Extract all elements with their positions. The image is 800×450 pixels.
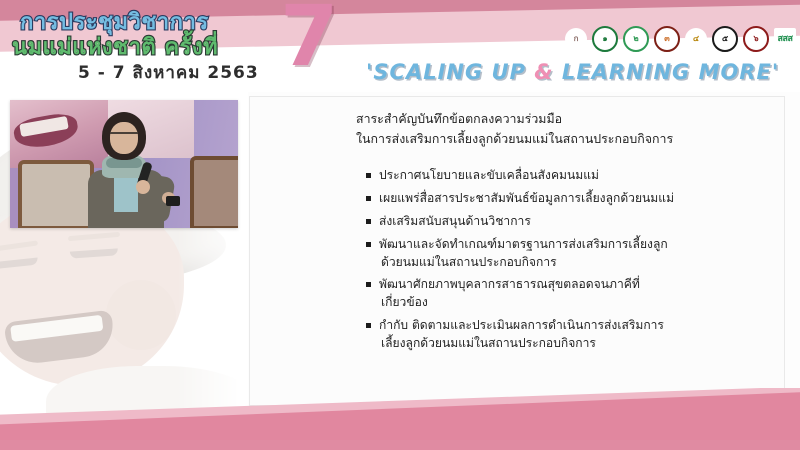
- thaihealth-sss-logo: สสส: [774, 28, 796, 50]
- red-shield-emblem-logo: ๖: [743, 26, 769, 52]
- black-circle-emblem-logo: ๕: [712, 26, 738, 52]
- stage-chair-left: [18, 160, 94, 228]
- bullet-text-line-2: ด้วยนมแม่ในสถานประกอบกิจการ: [379, 254, 776, 272]
- left-media-column: [0, 92, 248, 450]
- child-cheek: [106, 280, 176, 350]
- content-intro: สาระสำคัญบันทึกข้อตกลงความร่วมมือ ในการส…: [356, 109, 776, 149]
- royal-crown-emblem-logo: ๓: [654, 26, 680, 52]
- bullet-text-line-1: ส่งเสริมสนับสนุนด้านวิชาการ: [379, 214, 531, 228]
- speaker-hand-left: [136, 180, 150, 194]
- list-item: เผยแพร่สื่อสารประชาสัมพันธ์ข้อมูลการเลี้…: [366, 190, 776, 208]
- health-department-logo-glyph: ๒: [633, 35, 638, 43]
- bullet-text-line-2: เกี่ยวข้อง: [379, 294, 776, 312]
- garuda-emblem-logo-glyph: ๔: [693, 35, 699, 43]
- ministry-public-health-logo: ๑: [592, 26, 618, 52]
- conference-date: 5 - 7 สิงหาคม 2563: [78, 59, 259, 86]
- list-item: กำกับ ติดตามและประเมินผลการดำเนินการส่งเ…: [366, 317, 776, 353]
- tagline-part-1: 'SCALING UP: [366, 60, 534, 84]
- royal-seal-logo: ก: [565, 28, 587, 50]
- list-item: พัฒนาศักยภาพบุคลากรสาธารณสุขตลอดจนภาคีที…: [366, 276, 776, 312]
- bullet-text-line-1: พัฒนาและจัดทำเกณฑ์มาตรฐานการส่งเสริมการเ…: [379, 237, 668, 251]
- content-bullet-list: ประกาศนโยบายและขับเคลื่อนสังคมนมแม่ เผยแ…: [366, 167, 776, 358]
- royal-crown-emblem-logo-glyph: ๓: [664, 35, 669, 43]
- tagline-ampersand: &: [534, 60, 553, 84]
- list-item: ส่งเสริมสนับสนุนด้านวิชาการ: [366, 213, 776, 231]
- conference-tagline: 'SCALING UP & LEARNING MORE': [366, 60, 779, 84]
- list-item: พัฒนาและจัดทำเกณฑ์มาตรฐานการส่งเสริมการเ…: [366, 236, 776, 272]
- red-shield-emblem-logo-glyph: ๖: [753, 35, 758, 43]
- slide-header-banner: 7 การประชุมวิชาการ นมแม่แห่งชาติ ครั้งที…: [0, 0, 800, 92]
- bullet-text-line-1: กำกับ ติดตามและประเมินผลการดำเนินการส่งเ…: [379, 318, 664, 332]
- health-department-logo: ๒: [623, 26, 649, 52]
- speaker-shirt: [114, 172, 138, 212]
- royal-seal-logo-glyph: ก: [574, 35, 579, 43]
- black-circle-emblem-logo-glyph: ๕: [722, 35, 728, 43]
- tagline-part-2: LEARNING MORE': [554, 60, 780, 84]
- list-item: ประกาศนโยบายและขับเคลื่อนสังคมนมแม่: [366, 167, 776, 185]
- conference-edition-number: 7: [280, 0, 336, 78]
- content-intro-line-1: สาระสำคัญบันทึกข้อตกลงความร่วมมือ: [356, 109, 776, 129]
- stage-chair-right: [190, 156, 238, 228]
- bullet-text-line-1: เผยแพร่สื่อสารประชาสัมพันธ์ข้อมูลการเลี้…: [379, 191, 674, 205]
- bullet-text-line-1: ประกาศนโยบายและขับเคลื่อนสังคมนมแม่: [379, 168, 599, 182]
- bullet-text-line-1: พัฒนาศักยภาพบุคลากรสาธารณสุขตลอดจนภาคีที…: [379, 277, 640, 291]
- presentation-slide: 7 การประชุมวิชาการ นมแม่แห่งชาติ ครั้งที…: [0, 0, 800, 450]
- presenter-remote: [166, 196, 180, 206]
- content-intro-line-2: ในการส่งเสริมการเลี้ยงลูกด้วยนมแม่ในสถาน…: [356, 129, 776, 149]
- ministry-public-health-logo-glyph: ๑: [602, 35, 607, 43]
- bullet-text-line-2: เลี้ยงลูกด้วยนมแม่ในสถานประกอบกิจการ: [379, 335, 776, 353]
- sponsor-logo-row: ก ๑ ๒ ๓ ๔ ๕ ๖ สสส: [565, 26, 796, 52]
- slide-content-panel: สาระสำคัญบันทึกข้อตกลงความร่วมมือ ในการส…: [249, 96, 785, 406]
- speaker-glasses: [110, 132, 138, 141]
- thaihealth-sss-logo-glyph: สสส: [778, 35, 793, 44]
- garuda-emblem-logo: ๔: [685, 28, 707, 50]
- speaker-video-thumbnail[interactable]: [10, 100, 238, 228]
